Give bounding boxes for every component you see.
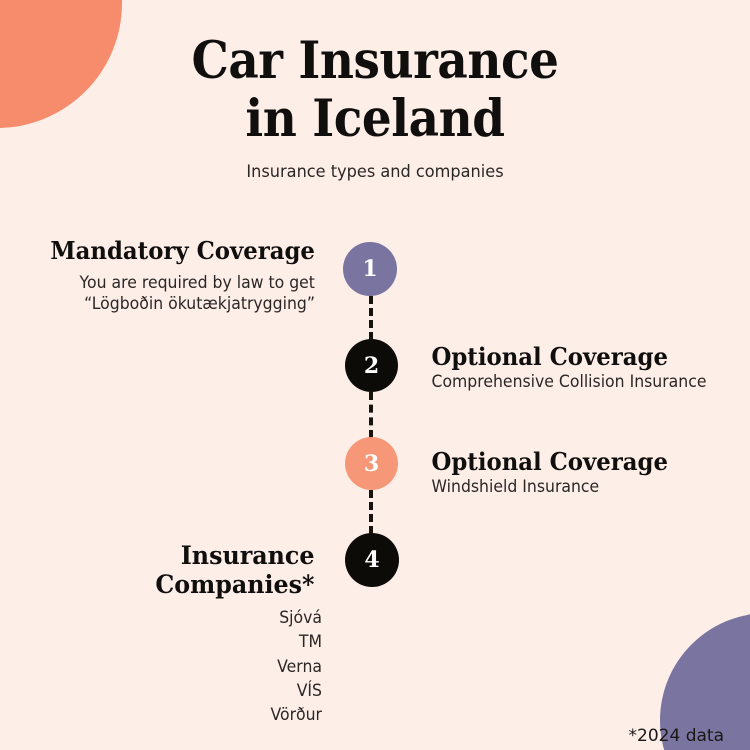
list-item: Verna [35,655,322,679]
timeline-node-3-number: 3 [364,451,379,477]
timeline-connector-1-2 [369,296,373,340]
step-4-heading: Insurance Companies* [28,541,315,599]
step-3-description: Windshield Insurance [432,477,717,496]
timeline-connector-3-4 [369,490,373,534]
timeline-node-1-number: 1 [362,256,377,282]
step-2-heading: Optional Coverage [432,342,717,371]
step-1-description: You are required by law to get “Lögboðin… [47,272,315,315]
step-4-block: Insurance Companies* Sjóvá TM Verna VÍS … [20,541,322,727]
step-1-heading: Mandatory Coverage [47,236,315,265]
step-1-description-line-2: “Lögboðin ökutækjatrygging” [84,294,315,313]
list-item: VÍS [35,679,322,703]
timeline-node-4-number: 4 [364,547,379,573]
infographic-canvas: Car Insurance in Iceland Insurance types… [0,0,750,750]
step-2-description: Comprehensive Collision Insurance [432,372,717,391]
list-item: TM [35,630,322,654]
timeline-node-2: 2 [345,339,398,392]
insurance-company-list: Sjóvá TM Verna VÍS Vörður [35,606,322,727]
list-item: Vörður [35,703,322,727]
timeline-node-4: 4 [345,533,399,587]
step-1-description-line-1: You are required by law to get [80,273,315,292]
timeline-node-3: 3 [345,437,398,490]
step-2-block: Optional Coverage Comprehensive Collisio… [424,342,724,391]
footnote: *2024 data [0,726,724,746]
timeline-node-2-number: 2 [364,353,379,379]
timeline-node-1: 1 [343,242,397,296]
list-item: Sjóvá [35,606,322,630]
step-3-block: Optional Coverage Windshield Insurance [424,447,724,496]
step-3-heading: Optional Coverage [432,447,717,476]
step-1-block: Mandatory Coverage You are required by l… [40,236,322,315]
timeline-connector-2-3 [369,392,373,438]
